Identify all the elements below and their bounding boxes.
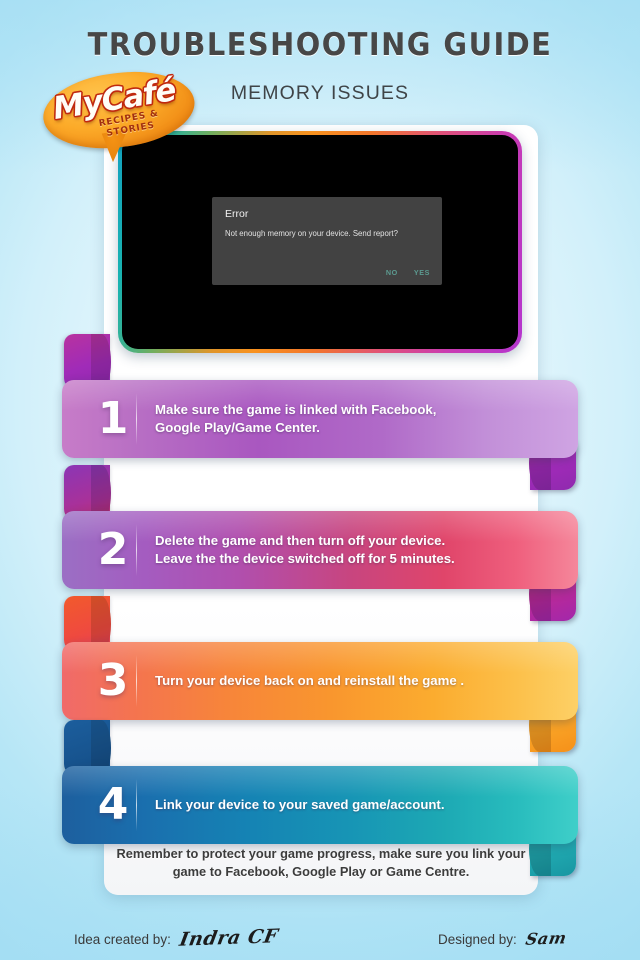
step-number: 3 [62,659,136,703]
step-item-1: 1 Make sure the game is linked with Face… [0,364,640,460]
credit-idea-signature: Indra CF [178,925,280,950]
credit-idea-label: Idea created by: [74,932,171,947]
step-number: 4 [62,783,136,827]
dialog-message: Not enough memory on your device. Send r… [225,228,431,239]
step-number: 2 [62,528,136,572]
step-number: 1 [62,397,136,441]
mycafe-logo: MyCafé RECIPES & STORIES [39,64,201,174]
dialog-actions: NO YES [386,268,430,277]
step-text: Make sure the game is linked with Facebo… [137,401,578,437]
credit-design-signature: Sam [524,928,568,948]
tablet-screen: Error Not enough memory on your device. … [122,135,518,349]
credits-bar: Idea created by: Indra CF Designed by: S… [0,918,640,958]
step-item-2: 2 Delete the game and then turn off your… [0,495,640,591]
step-item-3: 3 Turn your device back on and reinstall… [0,626,640,722]
step-item-4: 4 Link your device to your saved game/ac… [0,750,640,846]
step-text: Turn your device back on and reinstall t… [137,672,578,690]
dialog-title: Error [225,208,248,220]
error-dialog: Error Not enough memory on your device. … [212,197,442,285]
credit-idea: Idea created by: Indra CF [74,927,277,949]
closing-note: Remember to protect your game progress, … [112,845,530,881]
credit-design: Designed by: Sam [438,929,566,948]
credit-design-label: Designed by: [438,932,517,947]
dialog-yes-button[interactable]: YES [414,268,430,277]
step-banner: 3 Turn your device back on and reinstall… [62,642,578,720]
step-banner: 2 Delete the game and then turn off your… [62,511,578,589]
tablet-device: Error Not enough memory on your device. … [118,131,522,353]
step-text: Delete the game and then turn off your d… [137,532,578,568]
page-title: TROUBLESHOOTING GUIDE [22,0,617,63]
step-banner: 4 Link your device to your saved game/ac… [62,766,578,844]
dialog-no-button[interactable]: NO [386,268,398,277]
step-text: Link your device to your saved game/acco… [137,796,578,814]
step-banner: 1 Make sure the game is linked with Face… [62,380,578,458]
